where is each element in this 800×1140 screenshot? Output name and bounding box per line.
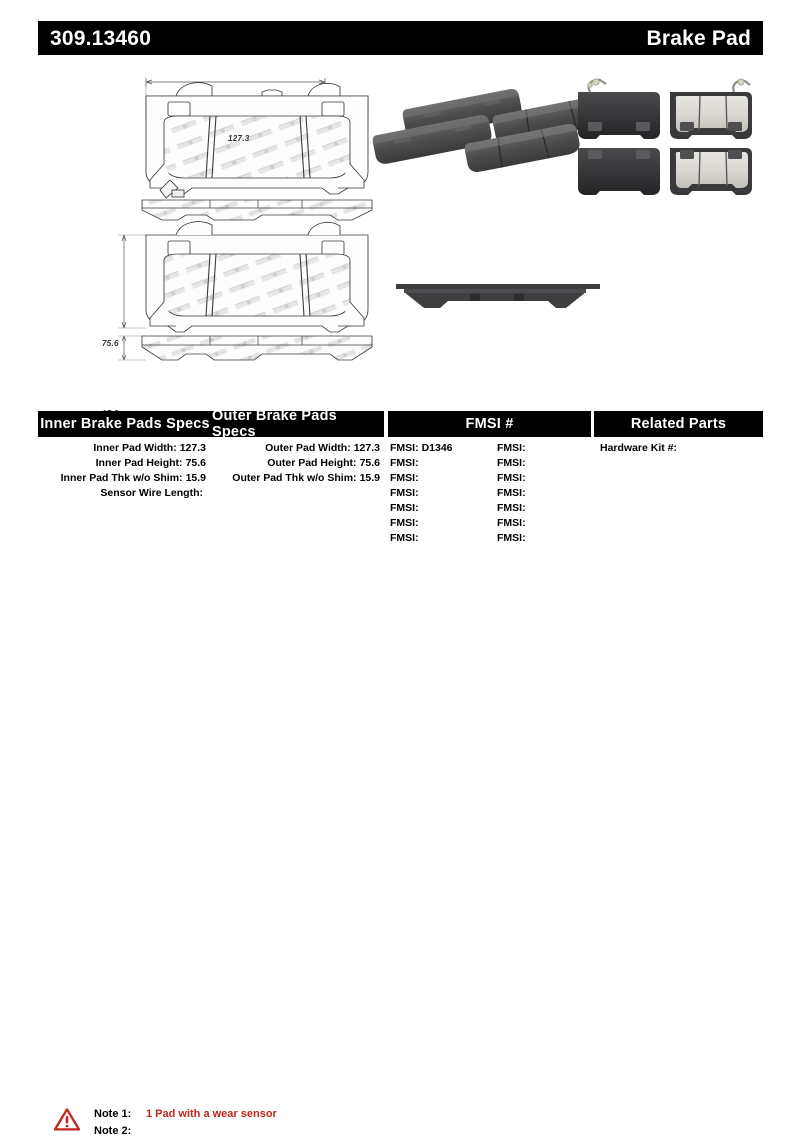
note-item: Note 1:1 Pad with a wear sensor: [94, 1106, 277, 1123]
table-row: Outer Pad Thk w/o Shim:15.9: [212, 471, 380, 486]
photo-pad-edge-profile: [396, 284, 600, 308]
spec-table: Inner Brake Pads Specs Outer Brake Pads …: [0, 400, 800, 560]
pad-dark-bottom-left: [578, 148, 660, 195]
outer-specs-column: Outer Pad Width:127.3 Outer Pad Height:7…: [212, 441, 384, 501]
fmsi-label: FMSI:: [497, 532, 526, 544]
pad-light-bottom-right: [670, 148, 752, 195]
header-inner-specs: Inner Brake Pads Specs: [38, 411, 212, 437]
table-row: Inner Pad Width:127.3: [38, 441, 206, 456]
fmsi-value: D1346: [422, 442, 453, 454]
fmsi-label: FMSI:: [497, 442, 526, 454]
table-row: FMSI:: [390, 471, 480, 486]
related-parts-column: Hardware Kit #:: [600, 441, 760, 456]
dimension-label-height: 75.6: [102, 339, 119, 348]
header-related-parts: Related Parts: [594, 411, 763, 437]
spec-label: Inner Pad Height:: [96, 457, 183, 469]
pad-dark-top-left: [578, 79, 660, 139]
photo-pad-set-angled: [372, 88, 610, 174]
table-row: FMSI:: [390, 486, 480, 501]
inner-specs-column: Inner Pad Width:127.3 Inner Pad Height:7…: [38, 441, 210, 501]
spec-label: Outer Pad Width:: [265, 442, 351, 454]
table-row: [212, 486, 380, 501]
hardware-kit-label: Hardware Kit #:: [600, 442, 677, 454]
spec-label: Outer Pad Thk w/o Shim:: [232, 472, 356, 484]
spec-value: 127.3: [354, 442, 380, 454]
table-row: FMSI:: [390, 501, 480, 516]
table-row: FMSI:D1346: [390, 441, 480, 456]
table-row: Inner Pad Thk w/o Shim:15.9: [38, 471, 206, 486]
notes-area: Note 1:1 Pad with a wear sensor Note 2:: [0, 552, 800, 602]
spec-value: 15.9: [186, 472, 206, 484]
table-row: Outer Pad Width:127.3: [212, 441, 380, 456]
fmsi-label: FMSI:: [390, 487, 419, 499]
table-row: FMSI:: [390, 456, 480, 471]
spec-sheet-page: 309.13460 Brake Pad: [0, 0, 800, 619]
fmsi-label: FMSI:: [390, 502, 419, 514]
spec-label: Inner Pad Thk w/o Shim:: [61, 472, 183, 484]
photo-pad-set-grid: [578, 79, 752, 195]
illustration-area: 127.3 75.6 15.9: [0, 60, 800, 390]
fmsi-label: FMSI:: [497, 472, 526, 484]
fmsi-label: FMSI:: [497, 487, 526, 499]
table-row: FMSI:: [497, 441, 587, 456]
table-row: FMSI:: [497, 501, 587, 516]
part-type-title: Brake Pad: [646, 28, 751, 49]
note-value: 1 Pad with a wear sensor: [146, 1108, 277, 1120]
fmsi-column-b: FMSI: FMSI: FMSI: FMSI: FMSI: FMSI: FMSI…: [497, 441, 587, 546]
header-fmsi: FMSI #: [388, 411, 591, 437]
spec-value: 75.6: [360, 457, 380, 469]
table-row: FMSI:: [390, 531, 480, 546]
fmsi-label: FMSI:: [390, 442, 419, 454]
spec-value: 75.6: [186, 457, 206, 469]
dimension-label-width: 127.3: [228, 134, 250, 143]
note-list: Note 1:1 Pad with a wear sensor Note 2:: [94, 1106, 277, 1140]
fmsi-label: FMSI:: [497, 457, 526, 469]
header-bar: 309.13460 Brake Pad: [38, 21, 763, 55]
table-row: Inner Pad Height:75.6: [38, 456, 206, 471]
warning-triangle-icon: [54, 1108, 80, 1131]
fmsi-label: FMSI:: [390, 532, 419, 544]
table-row: FMSI:: [497, 516, 587, 531]
table-row: FMSI:: [390, 516, 480, 531]
fmsi-label: FMSI:: [497, 502, 526, 514]
table-row: FMSI:: [497, 471, 587, 486]
spec-value: 15.9: [360, 472, 380, 484]
note-item: Note 2:: [94, 1123, 277, 1140]
note-label: Note 1:: [94, 1106, 142, 1123]
table-row: Outer Pad Height:75.6: [212, 456, 380, 471]
spec-label: Sensor Wire Length:: [100, 487, 203, 499]
spec-label: Inner Pad Width:: [93, 442, 176, 454]
table-row: FMSI:: [497, 486, 587, 501]
fmsi-label: FMSI:: [390, 472, 419, 484]
fmsi-label: FMSI:: [497, 517, 526, 529]
drawing-top-edge-view: [142, 200, 372, 220]
fmsi-label: FMSI:: [390, 457, 419, 469]
fmsi-column-a: FMSI:D1346 FMSI: FMSI: FMSI: FMSI: FMSI:…: [390, 441, 480, 546]
pad-light-top-right: [670, 79, 752, 139]
drawing-top-view: [146, 78, 368, 198]
part-number: 309.13460: [50, 28, 151, 49]
note-label: Note 2:: [94, 1123, 142, 1140]
spec-label: Outer Pad Height:: [267, 457, 356, 469]
fmsi-label: FMSI:: [390, 517, 419, 529]
spec-value: 127.3: [180, 442, 206, 454]
technical-drawings: [0, 60, 800, 390]
table-row: FMSI:: [497, 531, 587, 546]
header-outer-specs: Outer Brake Pads Specs: [212, 411, 384, 437]
table-row: Hardware Kit #:: [600, 441, 760, 456]
table-row: Sensor Wire Length:: [38, 486, 206, 501]
drawing-bottom-edge-view: [142, 336, 372, 360]
table-row: FMSI:: [497, 456, 587, 471]
